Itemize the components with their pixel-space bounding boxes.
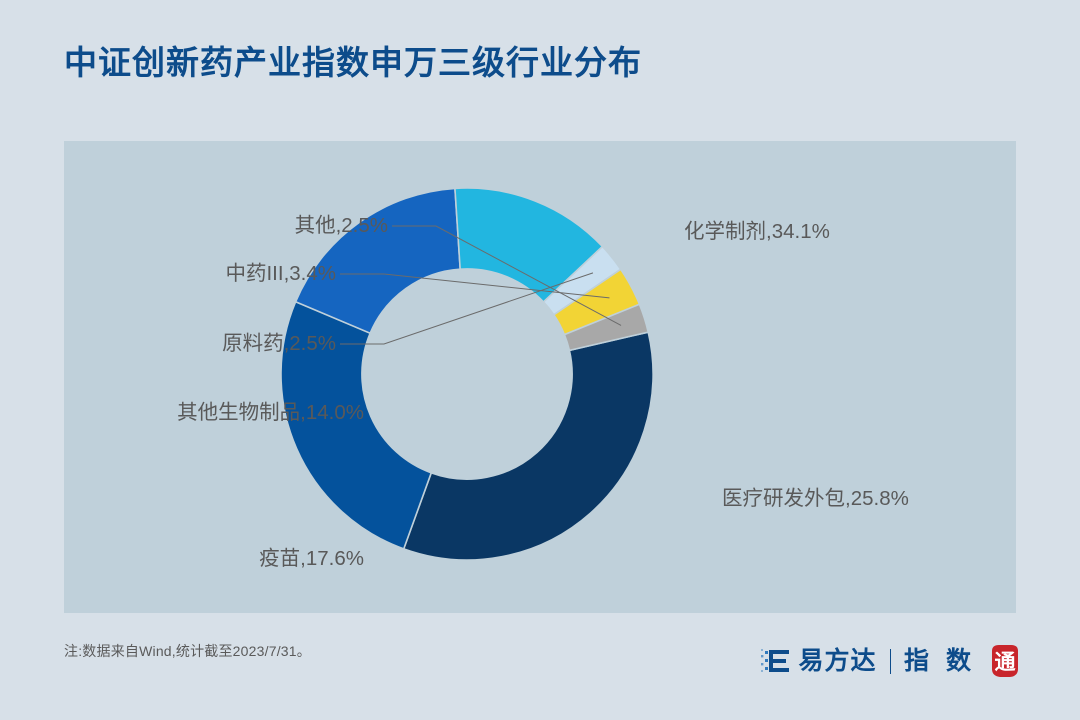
donut-chart: 化学制剂,34.1%医疗研发外包,25.8%疫苗,17.6%其他生物制品,14.… [64,141,1016,613]
brand-subtitle: 指 数 [904,647,976,675]
seal-stamp-icon: 通 [986,642,1024,680]
donut-chart-svg [64,141,1016,613]
slice-label: 医疗研发外包,25.8% [722,486,909,512]
slice-label: 其他生物制品,14.0% [177,400,364,426]
brand-divider [890,649,892,674]
e-pixel-logo-icon [761,648,791,674]
slice-label: 疫苗,17.6% [259,546,364,572]
chart-footnote: 注:数据来自Wind,统计截至2023/7/31。 [64,641,311,661]
page-title: 中证创新药产业指数申万三级行业分布 [64,40,642,86]
seal-character: 通 [986,642,1024,680]
slice-label: 其他,2.5% [295,213,388,239]
slide-page: 中证创新药产业指数申万三级行业分布 化学制剂,34.1%医疗研发外包,25.8%… [0,0,1080,720]
donut-slice[interactable] [404,332,653,560]
brand-logo: 易方达 指 数 通 [761,638,1024,684]
slice-label: 原料药,2.5% [222,331,336,357]
slice-label: 中药III,3.4% [225,261,336,287]
brand-name: 易方达 [799,647,877,675]
slice-label: 化学制剂,34.1% [684,219,830,245]
chart-panel: 化学制剂,34.1%医疗研发外包,25.8%疫苗,17.6%其他生物制品,14.… [64,141,1016,613]
